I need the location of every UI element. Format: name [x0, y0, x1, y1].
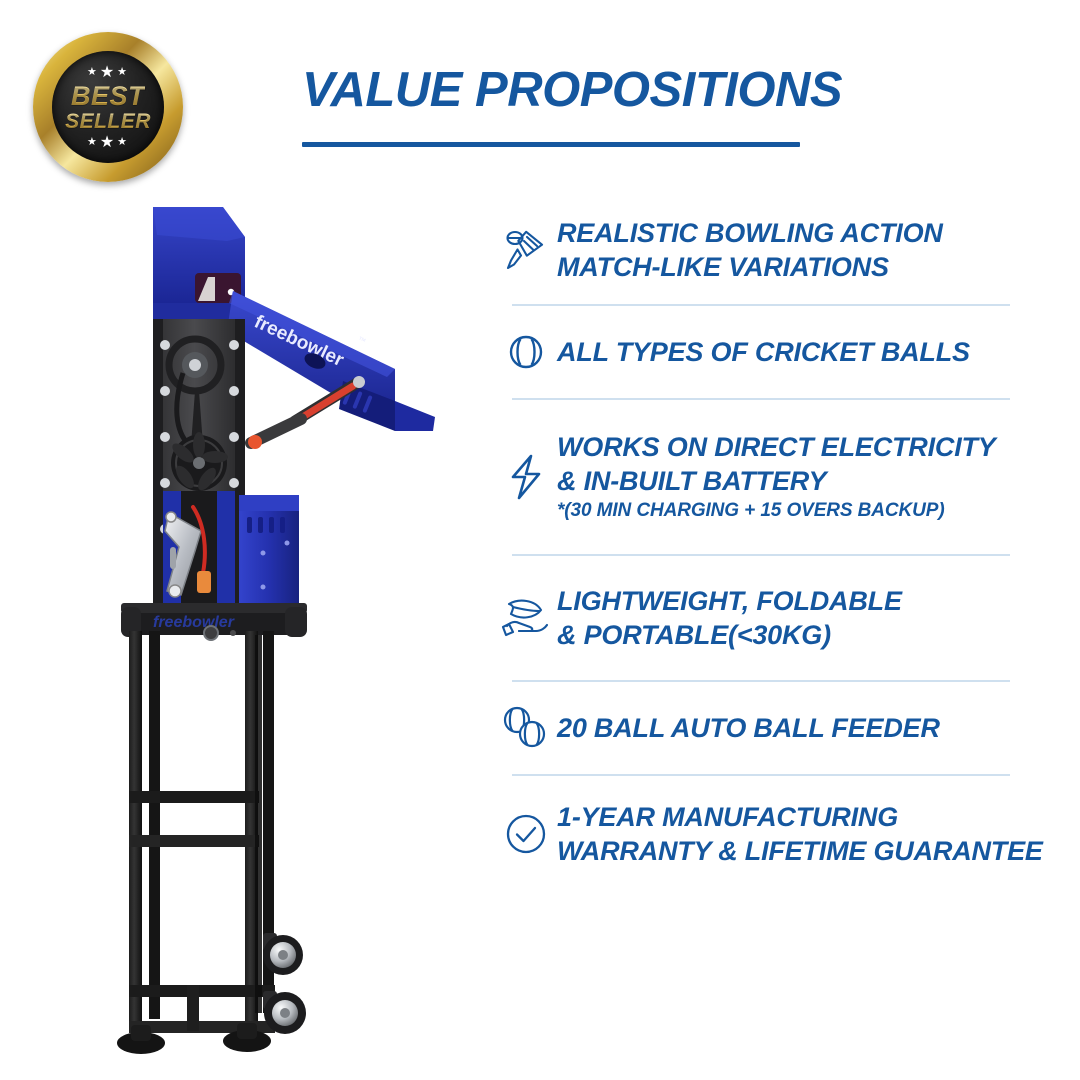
- machine-platform: freebowler: [121, 603, 307, 640]
- machine-gas-strut: [248, 376, 365, 449]
- feather-in-hand-icon: [495, 594, 557, 642]
- poster-canvas: ★★★ BEST SELLER ★★★ VALUE PROPOSITIONS: [0, 0, 1080, 1080]
- feature-line-1: LIGHTWEIGHT, FOLDABLE: [557, 584, 902, 618]
- product-illustration: freebowler ™: [95, 195, 455, 1055]
- feature-text-block: 20 BALL AUTO BALL FEEDER: [557, 711, 940, 745]
- feature-text-block: 1-YEAR MANUFACTURING WARRANTY & LIFETIME…: [557, 800, 1043, 868]
- platform-brand-text: freebowler: [153, 614, 235, 631]
- feature-text-block: LIGHTWEIGHT, FOLDABLE & PORTABLE(<30KG): [557, 584, 902, 652]
- lightning-bolt-icon: [495, 452, 557, 502]
- feature-line-2: WARRANTY & LIFETIME GUARANTEE: [557, 834, 1043, 868]
- page-title: VALUE PROPOSITIONS: [302, 66, 822, 115]
- feature-line-2: & PORTABLE(<30KG): [557, 618, 902, 652]
- cricket-ball-icon: [495, 331, 557, 373]
- badge-line-best: BEST: [71, 83, 145, 110]
- machine-battery-box: [239, 495, 299, 607]
- two-cricket-balls-icon: [495, 705, 557, 751]
- feature-line-1: ALL TYPES OF CRICKET BALLS: [557, 335, 970, 369]
- badge-line-seller: SELLER: [65, 111, 151, 132]
- feature-item-auto-ball-feeder: 20 BALL AUTO BALL FEEDER: [495, 682, 1040, 774]
- badge-stars-bottom: ★★★: [87, 137, 129, 148]
- feature-text-block: ALL TYPES OF CRICKET BALLS: [557, 335, 970, 369]
- machine-stand: [117, 631, 306, 1054]
- machine-caster-wheel-upper: [263, 933, 303, 975]
- feature-item-warranty: 1-YEAR MANUFACTURING WARRANTY & LIFETIME…: [495, 776, 1040, 892]
- arm-brand-trademark: ™: [356, 335, 367, 347]
- title-underline: [302, 142, 800, 147]
- feature-line-1: REALISTIC BOWLING ACTION: [557, 216, 943, 250]
- machine-chassis: [153, 319, 245, 609]
- feature-item-realistic-bowling-action: REALISTIC BOWLING ACTION MATCH-LIKE VARI…: [495, 196, 1040, 304]
- feature-text-block: REALISTIC BOWLING ACTION MATCH-LIKE VARI…: [557, 216, 943, 284]
- feature-line-2: & IN-BUILT BATTERY: [557, 464, 996, 498]
- feature-item-power-source: WORKS ON DIRECT ELECTRICITY & IN-BUILT B…: [495, 400, 1040, 554]
- cricket-bat-and-ball-icon: [495, 226, 557, 274]
- feature-text-block: WORKS ON DIRECT ELECTRICITY & IN-BUILT B…: [557, 430, 996, 524]
- badge-inner-disc: ★★★ BEST SELLER ★★★: [52, 51, 164, 163]
- feature-line-1: WORKS ON DIRECT ELECTRICITY: [557, 430, 996, 464]
- feature-list: REALISTIC BOWLING ACTION MATCH-LIKE VARI…: [495, 196, 1040, 892]
- check-circle-icon: [495, 810, 557, 858]
- feature-line-1: 20 BALL AUTO BALL FEEDER: [557, 711, 940, 745]
- feature-item-lightweight-portable: LIGHTWEIGHT, FOLDABLE & PORTABLE(<30KG): [495, 556, 1040, 680]
- badge-stars-top: ★★★: [87, 67, 129, 78]
- feature-line-2: MATCH-LIKE VARIATIONS: [557, 250, 943, 284]
- feature-item-all-cricket-balls: ALL TYPES OF CRICKET BALLS: [495, 306, 1040, 398]
- best-seller-badge: ★★★ BEST SELLER ★★★: [33, 32, 183, 182]
- machine-throwing-arm: freebowler ™: [227, 291, 435, 431]
- feature-line-1: 1-YEAR MANUFACTURING: [557, 800, 1043, 834]
- feature-note: *(30 MIN CHARGING + 15 OVERS BACKUP): [557, 499, 996, 524]
